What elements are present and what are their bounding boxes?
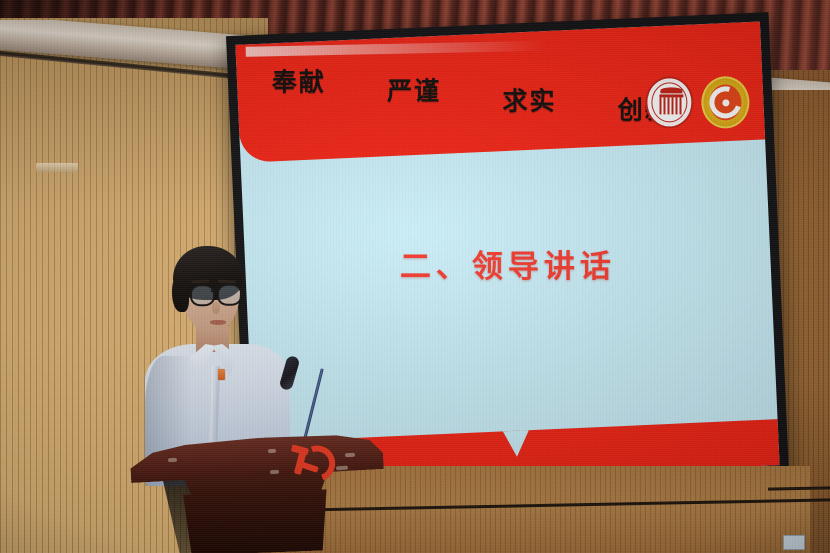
wall-plate (36, 163, 78, 173)
podium-highlight-1 (168, 458, 177, 462)
emblem-center-dot (722, 99, 729, 106)
slide-title: 二、领导讲话 (245, 241, 770, 286)
conference-hall-scene: 奉献 严谨 求实 创新 (0, 0, 830, 553)
organization-emblem-logo (701, 76, 749, 128)
presenter-mouth (210, 320, 226, 325)
glasses-lens-right (217, 284, 242, 306)
hammer-sickle-icon (289, 443, 327, 477)
presenter-hair-side (172, 274, 189, 312)
glasses-lens-left (190, 284, 215, 306)
university-seal-logo (645, 76, 693, 128)
slide-footer-notch (502, 430, 529, 457)
podium-highlight-3 (270, 470, 279, 474)
presenter-badge (218, 369, 225, 380)
podium-highlight-5 (336, 466, 348, 471)
wall-switch-plate (783, 535, 805, 550)
screen-bezel: 奉献 严谨 求实 创新 (226, 12, 789, 498)
emblem-inner (709, 84, 741, 120)
seal-gate (659, 94, 683, 114)
screen-panel: 奉献 严谨 求实 创新 (235, 22, 779, 489)
hammer-head (291, 444, 309, 455)
podium-highlight-4 (345, 453, 355, 458)
motto-word-1: 奉献 (272, 62, 326, 126)
podium-body (177, 489, 335, 553)
podium-highlight-2 (268, 449, 276, 453)
glasses-bridge (211, 290, 218, 292)
presenter-nose (212, 302, 220, 314)
glasses-icon (190, 284, 242, 304)
banner-motto: 奉献 严谨 求实 创新 (272, 62, 672, 126)
motto-word-2: 严谨 (387, 71, 441, 126)
seal-arch (660, 87, 682, 93)
motto-word-3: 求实 (502, 81, 556, 126)
logo-row (645, 76, 749, 128)
